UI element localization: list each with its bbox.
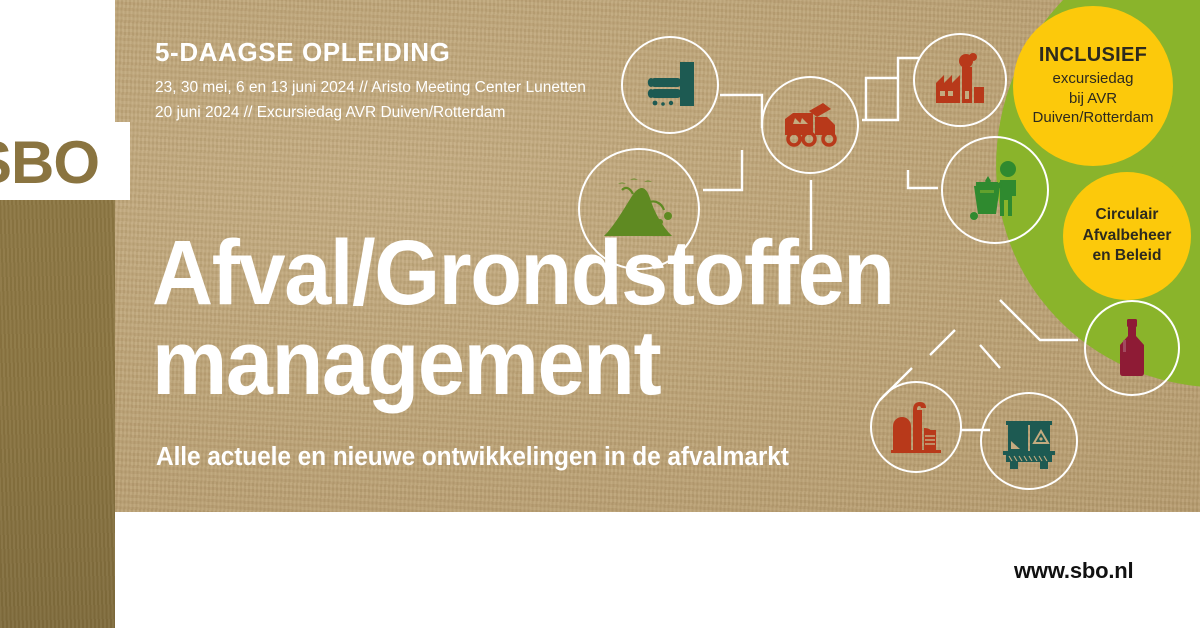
badge-circulair-line-2: Afvalbeheer [1083,226,1172,246]
badge-inclusief-title: INCLUSIEF [1039,44,1147,67]
icon-bubble-garbage-truck[interactable] [761,76,859,174]
person-waste-bin-icon [962,160,1028,220]
kraft-background-left-column [0,155,115,628]
icon-bubble-paper-rolls[interactable] [621,36,719,134]
hazardous-container-icon [998,413,1060,469]
sbo-logo[interactable]: SBO [0,133,99,193]
promotional-banner: SBO 5-DAAGSE OPLEIDING 23, 30 mei, 6 en … [0,0,1200,628]
badge-circulair-line-1: Circulair [1096,205,1159,225]
badge-circulair[interactable]: Circulair Afvalbeheer en Beleid [1063,172,1191,300]
badge-inclusief-line-1: excursiedag [1053,69,1134,89]
icon-bubble-factory[interactable] [913,33,1007,127]
website-url[interactable]: www.sbo.nl [1014,558,1133,584]
badge-inclusief-line-3: Duiven/Rotterdam [1033,108,1154,128]
garbage-truck-icon [779,101,841,149]
badge-inclusief-line-2: bij AVR [1069,89,1117,109]
badge-circulair-line-3: en Beleid [1093,246,1162,266]
icon-bubble-glass-bottle[interactable] [1084,300,1180,396]
headline-line-1: Afval/Grondstoffen [152,228,1008,318]
glass-bottle-icon [1112,318,1152,378]
page-title: Afval/Grondstoffen management [152,228,1008,408]
badge-inclusief[interactable]: INCLUSIEF excursiedag bij AVR Duiven/Rot… [1013,6,1173,166]
headline-line-2: management [152,318,1008,408]
paper-rolls-icon [642,60,698,110]
page-subtitle: Alle actuele en nieuwe ontwikkelingen in… [156,443,789,472]
factory-icon [932,53,988,107]
